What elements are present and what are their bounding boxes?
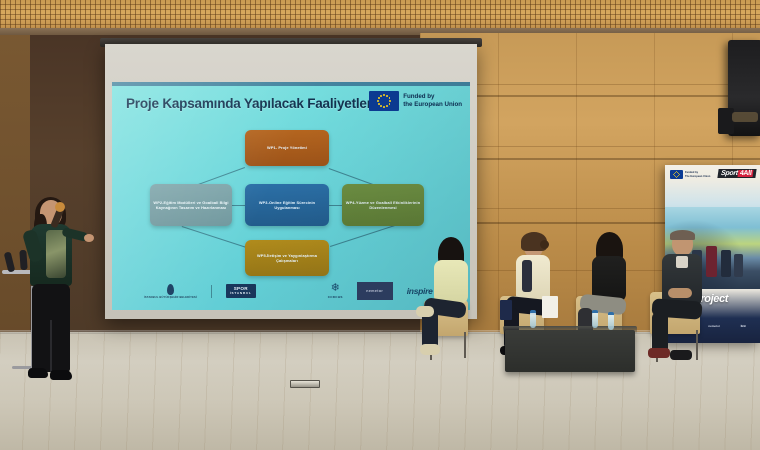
- diagram-node-wp1: WP1- Proje Yönetimi: [245, 130, 329, 166]
- eu-star-icon: [383, 106, 385, 108]
- presentation-slide: Proje Kapsamında Yapılacak Faaliyetler F…: [112, 82, 470, 310]
- conference-photo-scene: Proje Kapsamında Yapılacak Faaliyetler F…: [0, 0, 760, 450]
- microphone-head-icon: [55, 202, 65, 212]
- panelist-collar: [676, 256, 688, 268]
- stage-floor: [0, 332, 760, 450]
- diagram-node-wp3: WP3-Online Eğitim Sürecinin Uygulanması: [245, 184, 329, 226]
- speaker-leg-split: [50, 320, 52, 372]
- eu-star-icon: [380, 105, 382, 107]
- sport4all-logo: Sport4All: [717, 169, 757, 178]
- water-bottle: [592, 312, 598, 328]
- bottle-cap: [592, 310, 598, 313]
- eu-star-icon: [380, 95, 382, 97]
- speaker-grille: [732, 112, 758, 122]
- speaker-shoe: [28, 368, 48, 378]
- diagram-node-wp5: WP5-İletişim ve Yaygınlaştırma Çalışmala…: [245, 240, 329, 276]
- table-flag-dark: [500, 300, 512, 320]
- speaker-shoe: [50, 370, 72, 380]
- speaker-hand: [84, 234, 94, 242]
- nemetor-logo: nemetor: [357, 282, 393, 300]
- eu-star-icon: [378, 103, 380, 105]
- eu-star-icon: [377, 100, 379, 102]
- connector-line: [182, 226, 247, 248]
- eu-badge-line1: Funded by: [403, 93, 462, 101]
- eu-star-icon: [383, 94, 385, 96]
- panelist-inner-top: [522, 260, 532, 292]
- panelist-shoe: [670, 350, 692, 360]
- slide-top-accent-bar: [112, 82, 470, 86]
- banner-logo-ibb: İBB: [739, 323, 748, 329]
- athlete-silhouette: [734, 254, 743, 277]
- eu-star-icon: [389, 103, 391, 105]
- eu-star-icon: [389, 100, 391, 102]
- eu-star-icon: [389, 97, 391, 99]
- ibb-logo-label: İSTANBUL BÜYÜKŞEHİR BELEDİYESİ: [144, 296, 197, 299]
- connector-line: [329, 205, 342, 206]
- banner-eu-badge: Funded by The European Union: [670, 170, 710, 179]
- water-bottle: [608, 314, 614, 330]
- ibb-logo: İSTANBUL BÜYÜKŞEHİR BELEDİYESİ: [144, 284, 197, 299]
- eu-badge-text: Funded by the European Union: [403, 93, 462, 108]
- coffee-table: [505, 330, 635, 372]
- floor-outlet-box: [290, 380, 320, 388]
- athlete-silhouette: [721, 250, 731, 277]
- panelist-1: [420, 240, 476, 370]
- eu-badge-line2: the European Union: [403, 101, 462, 109]
- sport4all-accent: 4All: [737, 170, 754, 177]
- connector-line: [232, 205, 245, 206]
- banner-eu-text: Funded by The European Union: [685, 171, 710, 177]
- logo-divider: [211, 285, 212, 298]
- speaker-presenter: [18, 200, 88, 390]
- eu-star-icon: [386, 105, 388, 107]
- panelist-shoe: [420, 344, 440, 355]
- bottle-cap: [530, 310, 536, 313]
- panelist-hair: [670, 230, 695, 240]
- workflow-diagram: WP1- Proje Yönetimi WP2-Eğitim Modülleri…: [112, 128, 470, 268]
- eu-flag-icon: [670, 170, 683, 179]
- panelist-hair-bun: [540, 240, 549, 249]
- eu-flag-icon: [369, 91, 399, 111]
- panelist-shoe: [648, 348, 670, 358]
- table-flag-white: [542, 296, 558, 318]
- eu-star-icon: [378, 97, 380, 99]
- banner-eu-line2: The European Union: [685, 175, 710, 178]
- connector-line: [330, 225, 395, 247]
- cdchs-logo: ❄ CCDCHS: [328, 283, 343, 299]
- ceiling-acoustic-panel: [0, 0, 760, 30]
- eu-star-icon: [677, 176, 678, 177]
- spor-sub-label: İSTANBUL: [230, 291, 252, 296]
- panelist-hands: [668, 288, 692, 298]
- panelist-4: [650, 232, 712, 370]
- slide-sponsor-logo-strip: İSTANBUL BÜYÜKŞEHİR BELEDİYESİ SPOR İSTA…: [112, 278, 470, 304]
- bottle-cap: [608, 312, 614, 315]
- eu-funding-badge: Funded by the European Union: [369, 91, 462, 111]
- sport4all-brand: Sport: [720, 170, 738, 177]
- stage-edge-line: [0, 330, 760, 334]
- panelist-jacket: [434, 260, 468, 304]
- spor-istanbul-logo: SPOR İSTANBUL: [226, 284, 256, 298]
- eu-star-icon: [676, 177, 677, 178]
- panelist-shoe: [416, 306, 434, 317]
- tulip-icon: [167, 284, 174, 295]
- eu-star-icon: [386, 95, 388, 97]
- snowflake-icon: ❄: [331, 283, 340, 294]
- eu-star-icon: [675, 172, 676, 173]
- water-bottle: [530, 312, 536, 328]
- diagram-node-wp4: WP4-Yüzme ve Goalball Etkinliklerinin Dü…: [342, 184, 424, 226]
- eu-star-icon: [674, 173, 675, 174]
- speaker-scarf: [46, 230, 66, 278]
- cdchs-label: CCDCHS: [328, 295, 343, 299]
- eu-star-icon: [678, 175, 679, 176]
- slide-title: Proje Kapsamında Yapılacak Faaliyetler: [126, 96, 372, 111]
- speaker-bracket: [718, 108, 734, 134]
- diagram-node-wp2: WP2-Eğitim Modülleri ve Goalball Bilgi K…: [150, 184, 232, 226]
